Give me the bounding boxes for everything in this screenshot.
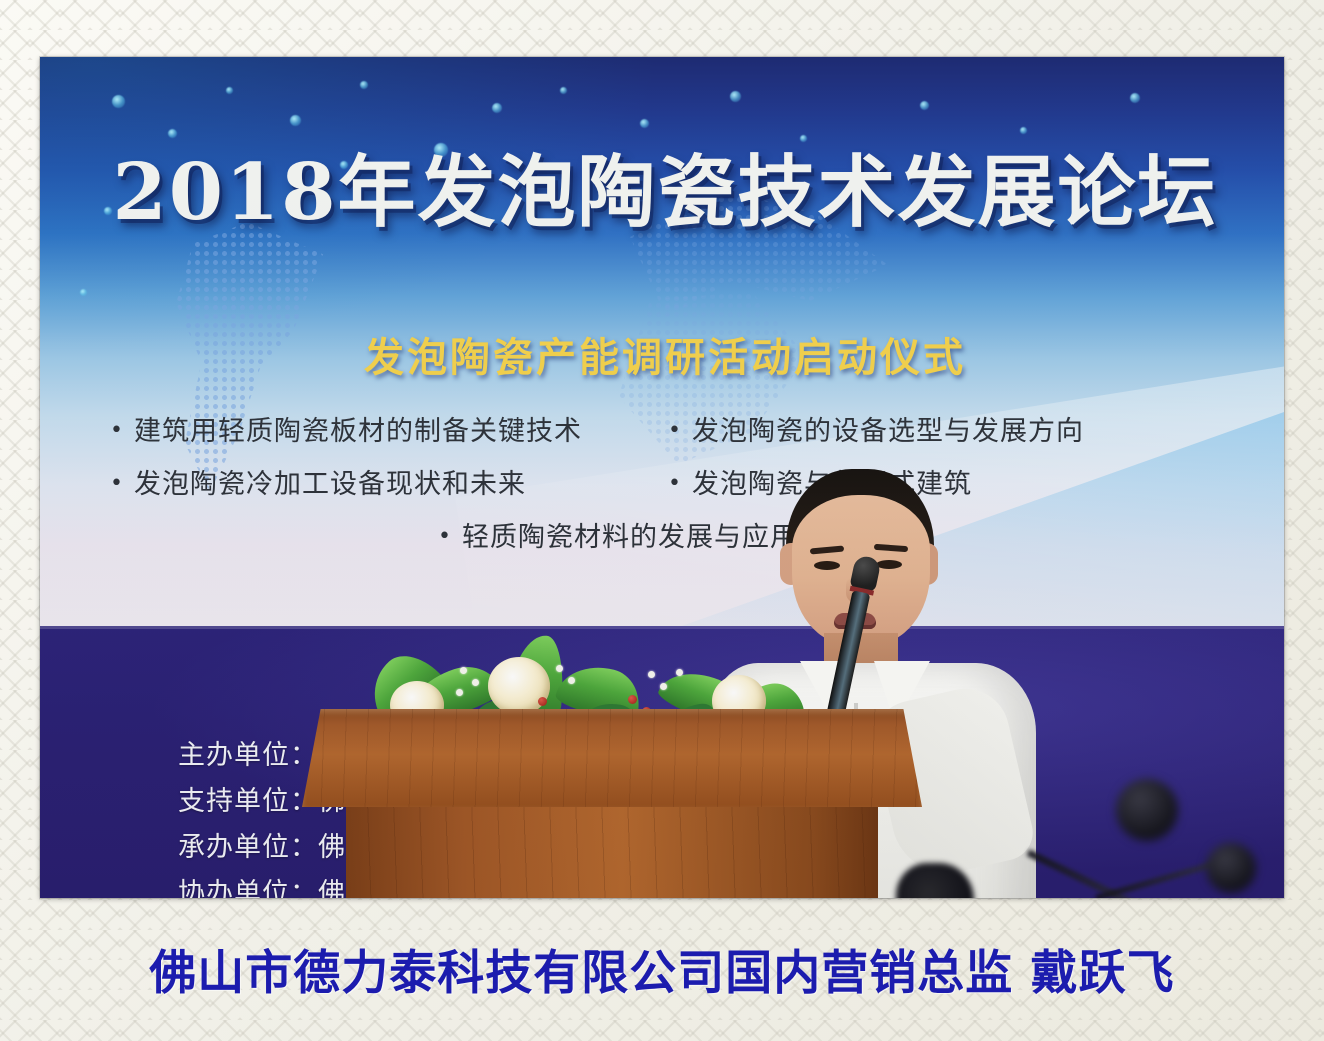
bokeh-dot [168, 129, 177, 138]
bokeh-dot [80, 289, 87, 296]
bokeh-dot [226, 87, 233, 94]
babys-breath [676, 669, 683, 676]
bokeh-dot [112, 95, 125, 108]
topic-item: 建筑用轻质陶瓷板材的制备关键技术 [110, 405, 582, 458]
speaker-eye [814, 561, 840, 570]
topic-item: 发泡陶瓷冷加工设备现状和未来 [110, 458, 582, 511]
organizer-label: 承办单位： [178, 832, 318, 863]
foreground-microphone-head [1116, 779, 1178, 841]
bokeh-dot [1130, 93, 1140, 103]
babys-breath [568, 677, 575, 684]
bokeh-dot [730, 91, 741, 102]
babys-breath [456, 689, 463, 696]
organizer-label: 协办单位： [178, 878, 318, 898]
babys-breath [660, 683, 667, 690]
foreground-microphone-head [1206, 843, 1256, 893]
event-photograph: 2018年发泡陶瓷技术发展论坛 发泡陶瓷产能调研活动启动仪式 建筑用轻质陶瓷板材… [40, 57, 1284, 898]
rose-flower [488, 657, 550, 715]
bokeh-dot [560, 87, 567, 94]
red-berry [538, 697, 547, 706]
forum-title: 2018年发泡陶瓷技术发展论坛 [100, 152, 1230, 233]
bokeh-dot [290, 115, 301, 126]
organizer-label: 支持单位： [178, 786, 318, 817]
bokeh-dot [1020, 127, 1027, 134]
wooden-podium [302, 709, 922, 898]
babys-breath [460, 667, 467, 674]
red-berry [628, 695, 637, 704]
topic-list-left: 建筑用轻质陶瓷板材的制备关键技术 发泡陶瓷冷加工设备现状和未来 [110, 405, 582, 511]
photo-mat-frame: 2018年发泡陶瓷技术发展论坛 发泡陶瓷产能调研活动启动仪式 建筑用轻质陶瓷板材… [0, 0, 1324, 1041]
bokeh-dot [360, 81, 368, 89]
podium-wood-grain [346, 807, 878, 898]
organizer-label: 主办单位： [178, 740, 318, 771]
bokeh-dot [492, 103, 502, 113]
bokeh-dot [800, 135, 807, 142]
babys-breath [472, 679, 479, 686]
topic-item: 发泡陶瓷的设备选型与发展方向 [668, 405, 1084, 458]
photo-caption: 佛山市德力泰科技有限公司国内营销总监 戴跃飞 [0, 934, 1324, 1003]
babys-breath [648, 671, 655, 678]
bokeh-dot [640, 119, 649, 128]
babys-breath [556, 665, 563, 672]
forum-subtitle: 发泡陶瓷产能调研活动启动仪式 [100, 325, 1230, 383]
podium-wood-grain [302, 709, 922, 807]
bokeh-dot [920, 101, 929, 110]
